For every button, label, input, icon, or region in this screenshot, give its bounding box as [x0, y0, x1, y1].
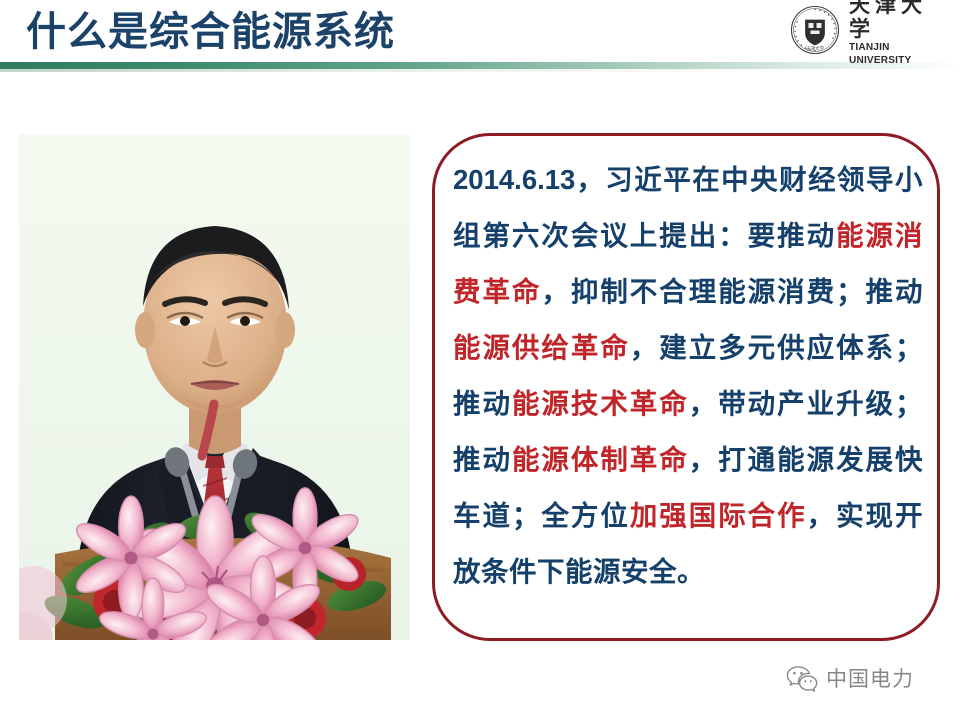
header-divider — [0, 62, 960, 69]
quote-text: 2014.6.13，习近平在中央财经领导小组第六次会议上提出：要推动能源消费革命… — [453, 152, 923, 600]
university-name-cn: 天津大学 — [849, 0, 950, 41]
tianjin-university-seal-icon: 天津大学 — [790, 5, 840, 55]
quote-highlight-run: 能源技术革命 — [512, 388, 689, 419]
university-wordmark: 天津大学 TIANJIN UNIVERSITY — [849, 0, 950, 67]
wechat-icon — [786, 665, 818, 693]
slide-header: 什么是综合能源系统 — [0, 0, 960, 70]
quote-highlight-run: 加强国际合作 — [630, 500, 807, 531]
footer-watermark: 中国电力 — [786, 662, 946, 696]
quote-highlight-run: 能源体制革命 — [512, 444, 689, 475]
speaker-photo-image — [19, 134, 410, 640]
university-name-en: TIANJIN UNIVERSITY — [849, 41, 946, 67]
speaker-photo — [19, 134, 410, 640]
quote-highlight-run: 能源供给革命 — [453, 332, 630, 363]
quote-plain-run: 2014.6.13 — [453, 164, 575, 195]
university-logo: 天津大学 天津大学 TIANJIN UNIVERSITY — [790, 4, 950, 56]
header-divider-shadow — [0, 69, 960, 72]
page-title: 什么是综合能源系统 — [26, 6, 395, 58]
quote-plain-run: ，抑制不合理能源消费；推动 — [541, 276, 923, 307]
svg-text:天津大学: 天津大学 — [806, 45, 824, 52]
footer-label: 中国电力 — [826, 666, 914, 692]
slide-root: 什么是综合能源系统 — [0, 0, 960, 720]
